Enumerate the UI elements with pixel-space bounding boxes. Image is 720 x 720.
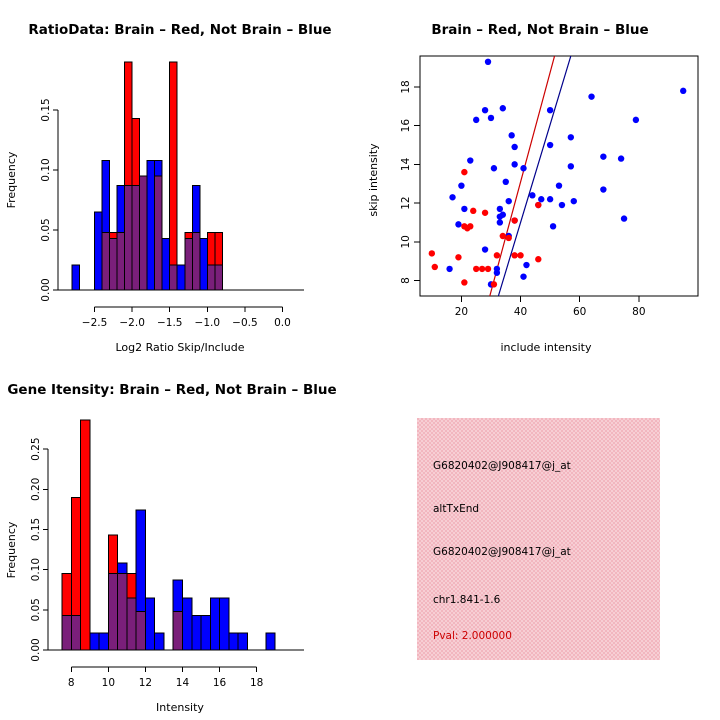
scatter-point <box>488 115 494 121</box>
histogram-bar-blue <box>162 238 170 290</box>
scatter-point <box>446 266 452 272</box>
x-axis-tick-label: −2.5 <box>82 317 108 329</box>
scatter-point <box>500 233 506 239</box>
histogram-bar-blue <box>192 615 201 650</box>
histogram-bar-blue <box>201 615 210 650</box>
scatter-point <box>600 153 606 159</box>
scatter-point <box>482 210 488 216</box>
annotation-event-type: altTxEnd <box>433 503 479 515</box>
scatter-point <box>467 157 473 163</box>
y-axis-tick-label: 10 <box>400 235 412 248</box>
histogram-bar-blue <box>182 598 191 650</box>
x-axis-tick-label: 8 <box>68 677 75 689</box>
histogram-bar-overlap <box>125 186 133 290</box>
scatter-point <box>458 182 464 188</box>
scatter-point <box>523 262 529 268</box>
scatter-point <box>482 107 488 113</box>
scatter-point <box>559 202 565 208</box>
y-axis-tick-label: 16 <box>400 119 412 133</box>
x-axis-tick-label: 40 <box>514 306 527 318</box>
x-axis-tick-label: −1.5 <box>157 317 183 329</box>
x-axis-tick-label: 60 <box>573 306 586 318</box>
scatter-point <box>482 246 488 252</box>
annotation-panel: G6820402@J908417@j_at altTxEnd G6820402@… <box>360 360 720 720</box>
histogram-bar-overlap <box>118 574 127 650</box>
scatter-point <box>500 212 506 218</box>
scatter-point <box>618 155 624 161</box>
intensity-scatter-panel: Brain – Red, Not Brain – Blue 2040608081… <box>360 0 720 360</box>
scatter-point <box>485 266 491 272</box>
scatter-point <box>568 134 574 140</box>
scatter-point <box>535 256 541 262</box>
x-axis-tick-label: 80 <box>632 306 645 318</box>
x-axis-tick-label: −1.0 <box>195 317 221 329</box>
scatter-point <box>461 279 467 285</box>
scatter-point <box>491 165 497 171</box>
y-axis-tick-label: 0.05 <box>40 218 52 241</box>
scatter-point <box>497 206 503 212</box>
gene-intensity-histogram-panel: Gene Itensity: Brain – Red, Not Brain – … <box>0 360 360 720</box>
scatter-point <box>571 198 577 204</box>
scatter-point <box>449 194 455 200</box>
scatter-point <box>485 59 491 65</box>
histogram-bar-overlap <box>185 238 193 290</box>
y-axis-tick-label: 0.20 <box>30 478 42 501</box>
x-axis-tick-label: −0.5 <box>232 317 258 329</box>
y-axis-tick-label: 0.00 <box>40 278 52 301</box>
ratio-histogram-xlabel: Log2 Ratio Skip/Include <box>115 341 244 354</box>
histogram-bar-blue <box>210 598 219 650</box>
histogram-bar-blue <box>220 598 229 650</box>
gene-intensity-plot-area: 0.000.050.100.150.200.2581012141618 <box>30 420 304 689</box>
scatter-point <box>547 107 553 113</box>
histogram-bar-blue <box>200 238 208 290</box>
x-axis-tick-label: 0.0 <box>274 317 291 329</box>
histogram-bar-overlap <box>110 238 118 290</box>
annotation-box: G6820402@J908417@j_at altTxEnd G6820402@… <box>417 418 660 660</box>
scatter-point <box>556 182 562 188</box>
scatter-point <box>473 117 479 123</box>
scatter-point <box>473 266 479 272</box>
gene-intensity-histogram-xlabel: Intensity <box>156 701 204 714</box>
scatter-point <box>538 196 544 202</box>
regression-line <box>490 56 555 296</box>
histogram-bar-blue <box>238 633 247 650</box>
scatter-point <box>506 198 512 204</box>
scatter-point <box>500 105 506 111</box>
y-axis-tick-label: 18 <box>400 80 412 93</box>
scatter-point <box>503 179 509 185</box>
gene-intensity-histogram-svg: Gene Itensity: Brain – Red, Not Brain – … <box>0 360 360 720</box>
annotation-locus: chr1.841-1.6 <box>433 594 500 606</box>
intensity-scatter-svg: Brain – Red, Not Brain – Blue 2040608081… <box>360 0 720 360</box>
scatter-point <box>517 252 523 258</box>
scatter-point <box>547 196 553 202</box>
ratio-histogram-title: RatioData: Brain – Red, Not Brain – Blue <box>28 22 331 38</box>
histogram-bar-blue <box>95 212 103 290</box>
scatter-point <box>506 235 512 241</box>
y-axis-tick-label: 0.10 <box>40 158 52 181</box>
ratio-histogram-svg: RatioData: Brain – Red, Not Brain – Blue… <box>0 0 360 360</box>
scatter-point <box>511 161 517 167</box>
y-axis-tick-label: 0.15 <box>30 518 42 541</box>
scatter-point <box>520 273 526 279</box>
histogram-bar-overlap <box>62 615 71 650</box>
ratio-histogram-ylabel: Frequency <box>5 151 18 208</box>
y-axis-tick-label: 0.05 <box>30 598 42 621</box>
scatter-point <box>511 252 517 258</box>
gene-intensity-histogram-ylabel: Frequency <box>5 521 18 578</box>
intensity-scatter-xlabel: include intensity <box>500 341 592 354</box>
annotation-probeset-id-2: G6820402@J908417@j_at <box>433 546 571 558</box>
scatter-point <box>568 163 574 169</box>
scatter-point <box>633 117 639 123</box>
scatter-point <box>600 186 606 192</box>
scatter-point <box>461 169 467 175</box>
y-axis-tick-label: 8 <box>400 277 412 284</box>
scatter-point <box>511 217 517 223</box>
x-axis-tick-label: 10 <box>102 677 115 689</box>
scatter-point <box>491 281 497 287</box>
ratio-histogram-panel: RatioData: Brain – Red, Not Brain – Blue… <box>0 0 360 360</box>
histogram-bar-overlap <box>136 611 145 650</box>
scatter-point <box>680 88 686 94</box>
scatter-point <box>529 192 535 198</box>
annotation-pvalue: Pval: 2.000000 <box>433 630 512 642</box>
histogram-bar-overlap <box>108 574 117 650</box>
scatter-point <box>432 264 438 270</box>
histogram-bar-overlap <box>127 598 136 650</box>
histogram-bar-blue <box>177 265 185 290</box>
y-axis-tick-label: 0.10 <box>30 558 42 581</box>
scatter-point <box>621 215 627 221</box>
scatter-point <box>429 250 435 256</box>
intensity-scatter-plot-area: 2040608081012141618 <box>400 56 698 318</box>
histogram-bar-blue <box>147 160 155 290</box>
histogram-bar-overlap <box>192 232 200 290</box>
histogram-bar-red <box>81 420 90 650</box>
histogram-bar-overlap <box>140 176 148 290</box>
histogram-bar-overlap <box>102 232 110 290</box>
scatter-point <box>588 93 594 99</box>
histogram-bar-blue <box>266 633 275 650</box>
annotation-probeset-id: G6820402@J908417@j_at <box>433 460 571 472</box>
histogram-bar-blue <box>99 633 108 650</box>
scatter-point <box>461 223 467 229</box>
histogram-bar-overlap <box>132 186 140 290</box>
x-axis-tick-label: 18 <box>250 677 263 689</box>
histogram-bar-overlap <box>117 232 125 290</box>
y-axis-tick-label: 12 <box>400 196 412 209</box>
gene-intensity-histogram-title: Gene Itensity: Brain – Red, Not Brain – … <box>7 382 336 398</box>
scatter-point <box>535 202 541 208</box>
scatter-point <box>461 206 467 212</box>
scatter-point <box>494 252 500 258</box>
x-axis-tick-label: 14 <box>176 677 190 689</box>
scatter-point <box>479 266 485 272</box>
histogram-bar-blue <box>229 633 238 650</box>
histogram-bar-red <box>170 62 178 290</box>
ratio-histogram-plot-area: 0.000.050.100.15−2.5−2.0−1.5−1.0−0.50.0 <box>40 62 304 329</box>
scatter-point <box>550 223 556 229</box>
scatter-point <box>547 142 553 148</box>
histogram-bar-overlap <box>155 176 163 290</box>
histogram-bar-overlap <box>170 265 178 290</box>
scatter-point <box>494 266 500 272</box>
x-axis-tick-label: 16 <box>213 677 227 689</box>
histogram-bar-overlap <box>173 611 182 650</box>
scatter-point <box>455 221 461 227</box>
scatter-point <box>470 208 476 214</box>
regression-line <box>498 56 570 296</box>
histogram-bar-overlap <box>207 265 215 290</box>
scatter-point <box>511 144 517 150</box>
scatter-point <box>497 219 503 225</box>
intensity-scatter-title: Brain – Red, Not Brain – Blue <box>431 22 648 38</box>
y-axis-tick-label: 14 <box>400 157 412 171</box>
x-axis-tick-label: 12 <box>139 677 152 689</box>
histogram-bar-overlap <box>71 615 80 650</box>
y-axis-tick-label: 0.25 <box>30 437 42 460</box>
x-axis-tick-label: −2.0 <box>119 317 145 329</box>
histogram-bar-blue <box>155 633 164 650</box>
scatter-point <box>520 165 526 171</box>
x-axis-tick-label: 20 <box>455 306 468 318</box>
histogram-bar-overlap <box>215 265 223 290</box>
histogram-bar-blue <box>90 633 99 650</box>
y-axis-tick-label: 0.00 <box>30 638 42 661</box>
histogram-bar-blue <box>145 598 154 650</box>
intensity-scatter-ylabel: skip intensity <box>367 143 380 217</box>
plot-box <box>420 56 698 296</box>
histogram-bar-blue <box>72 265 80 290</box>
scatter-point <box>508 132 514 138</box>
scatter-point <box>455 254 461 260</box>
y-axis-tick-label: 0.15 <box>40 98 52 121</box>
